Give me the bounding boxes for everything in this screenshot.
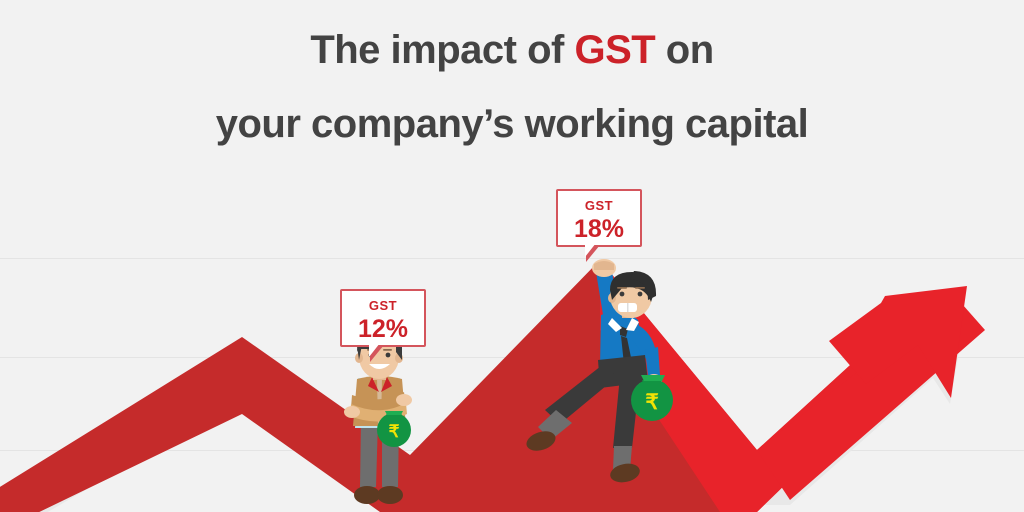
callout-tail-icon	[370, 345, 384, 362]
svg-text:₹: ₹	[389, 422, 400, 441]
callout-gst-18[interactable]: GST 18%	[556, 189, 642, 247]
arrow-line	[0, 260, 985, 512]
chart-arrow-graphic: ₹	[0, 0, 1024, 512]
svg-text:₹: ₹	[645, 391, 658, 414]
callout-tail-icon	[586, 245, 600, 262]
infographic-canvas: The impact of GST on your company’s work…	[0, 0, 1024, 512]
callout-value: 12%	[342, 317, 424, 342]
callout-gst-12[interactable]: GST 12%	[340, 289, 426, 347]
callout-label: GST	[558, 198, 640, 213]
callout-value: 18%	[558, 217, 640, 242]
callout-label: GST	[342, 298, 424, 313]
